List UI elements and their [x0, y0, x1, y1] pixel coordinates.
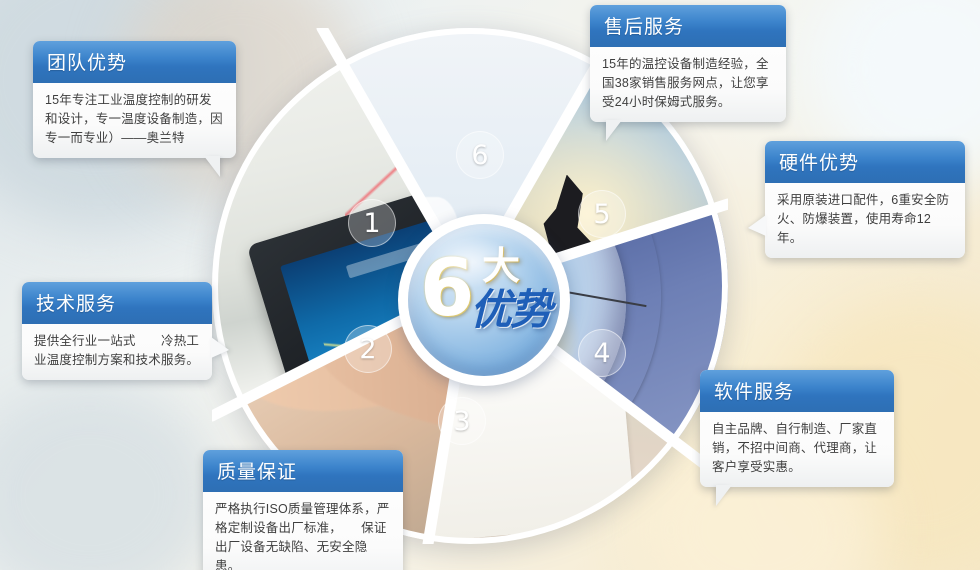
card-team-advantage[interactable]: 团队优势 15年专注工业温度控制的研发和设计，专一温度设备制造，因专一而专业）—…: [33, 41, 236, 158]
card-software-service-body: 自主品牌、自行制造、厂家直销，不招中间商、代理商，让客户享受实惠。: [700, 412, 894, 487]
card-quality-assurance[interactable]: 质量保证 严格执行ISO质量管理体系，严格定制设备出厂标准， 保证出厂设备无缺陷…: [203, 450, 403, 570]
poster-canvas: 6 大 优势 1 2 3 4 5 6 团队优势 15年专注工业温度控制的研发和设…: [0, 0, 980, 570]
badge-4-label: 4: [593, 338, 610, 369]
background-blur-blob: [0, 380, 220, 570]
badge-1[interactable]: 1: [348, 199, 396, 247]
badge-2-label: 2: [359, 334, 376, 365]
card-team-advantage-body: 15年专注工业温度控制的研发和设计，专一温度设备制造，因专一而专业）——奥兰特: [33, 83, 236, 158]
card-technical-service-title: 技术服务: [22, 282, 212, 324]
card-hardware-advantage[interactable]: 硬件优势 采用原装进口配件，6重安全防火、防爆装置，使用寿命12年。: [765, 141, 965, 258]
card-hardware-advantage-tail: [748, 215, 766, 236]
badge-3[interactable]: 3: [438, 397, 486, 445]
card-technical-service-tail: [211, 337, 229, 358]
center-badge-inner: 6 大 优势: [408, 224, 560, 376]
badge-5[interactable]: 5: [578, 190, 626, 238]
badge-1-label: 1: [363, 208, 380, 239]
card-after-sales-service[interactable]: 售后服务 15年的温控设备制造经验，全国38家销售服务网点，让您享受24小时保姆…: [590, 5, 786, 122]
card-hardware-advantage-body: 采用原装进口配件，6重安全防火、防爆装置，使用寿命12年。: [765, 183, 965, 258]
center-number: 6: [420, 250, 474, 328]
card-quality-assurance-title: 质量保证: [203, 450, 403, 492]
center-word-label: 优势: [470, 288, 550, 332]
card-team-advantage-tail: [204, 156, 220, 177]
card-after-sales-service-body: 15年的温控设备制造经验，全国38家销售服务网点，让您享受24小时保姆式服务。: [590, 47, 786, 122]
card-software-service-title: 软件服务: [700, 370, 894, 412]
center-badge[interactable]: 6 大 优势: [398, 214, 570, 386]
card-quality-assurance-body: 严格执行ISO质量管理体系，严格定制设备出厂标准， 保证出厂设备无缺陷、无安全隐…: [203, 492, 403, 570]
badge-2[interactable]: 2: [344, 325, 392, 373]
card-technical-service[interactable]: 技术服务 提供全行业一站式 冷热工业温度控制方案和技术服务。: [22, 282, 212, 380]
card-after-sales-service-tail: [606, 120, 622, 141]
badge-6-label: 6: [471, 140, 488, 171]
badge-3-label: 3: [453, 406, 470, 437]
card-technical-service-body: 提供全行业一站式 冷热工业温度控制方案和技术服务。: [22, 324, 212, 380]
card-software-service[interactable]: 软件服务 自主品牌、自行制造、厂家直销，不招中间商、代理商，让客户享受实惠。: [700, 370, 894, 487]
badge-5-label: 5: [593, 199, 610, 230]
badge-6[interactable]: 6: [456, 131, 504, 179]
badge-4[interactable]: 4: [578, 329, 626, 377]
card-hardware-advantage-title: 硬件优势: [765, 141, 965, 183]
center-unit-label: 大: [482, 248, 520, 286]
card-team-advantage-title: 团队优势: [33, 41, 236, 83]
card-software-service-tail: [716, 485, 732, 506]
card-after-sales-service-title: 售后服务: [590, 5, 786, 47]
